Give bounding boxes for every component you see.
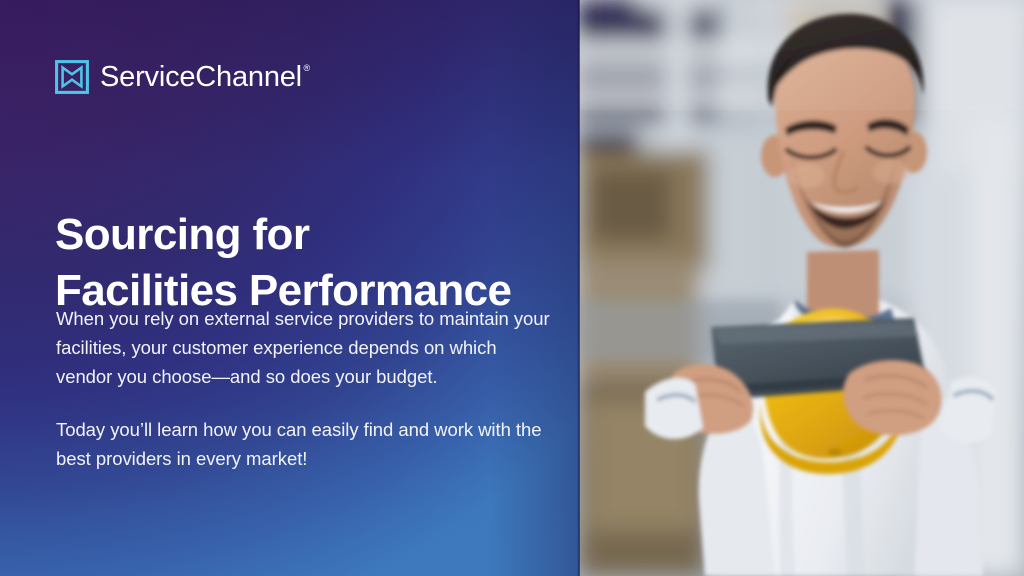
brand-wordmark: ServiceChannel ® [100,63,302,92]
hero-photo-illustration [579,0,1024,576]
body-paragraph-1: When you rely on external service provid… [56,304,556,392]
hero-photo [579,0,1024,576]
servicechannel-bowtie-icon [55,60,89,94]
presentation-slide: ServiceChannel ® Sourcing for Facilities… [0,0,1024,576]
brand-wordmark-text: ServiceChannel [100,61,302,93]
trademark-symbol: ® [304,64,310,73]
panel-photo-seam [577,0,580,576]
brand-logo: ServiceChannel ® [55,60,302,94]
body-paragraph-2: Today you’ll learn how you can easily fi… [56,415,556,473]
headline-line-1: Sourcing for [55,207,565,263]
slide-headline: Sourcing for Facilities Performance [55,207,565,319]
slide-body-copy: When you rely on external service provid… [56,304,556,473]
